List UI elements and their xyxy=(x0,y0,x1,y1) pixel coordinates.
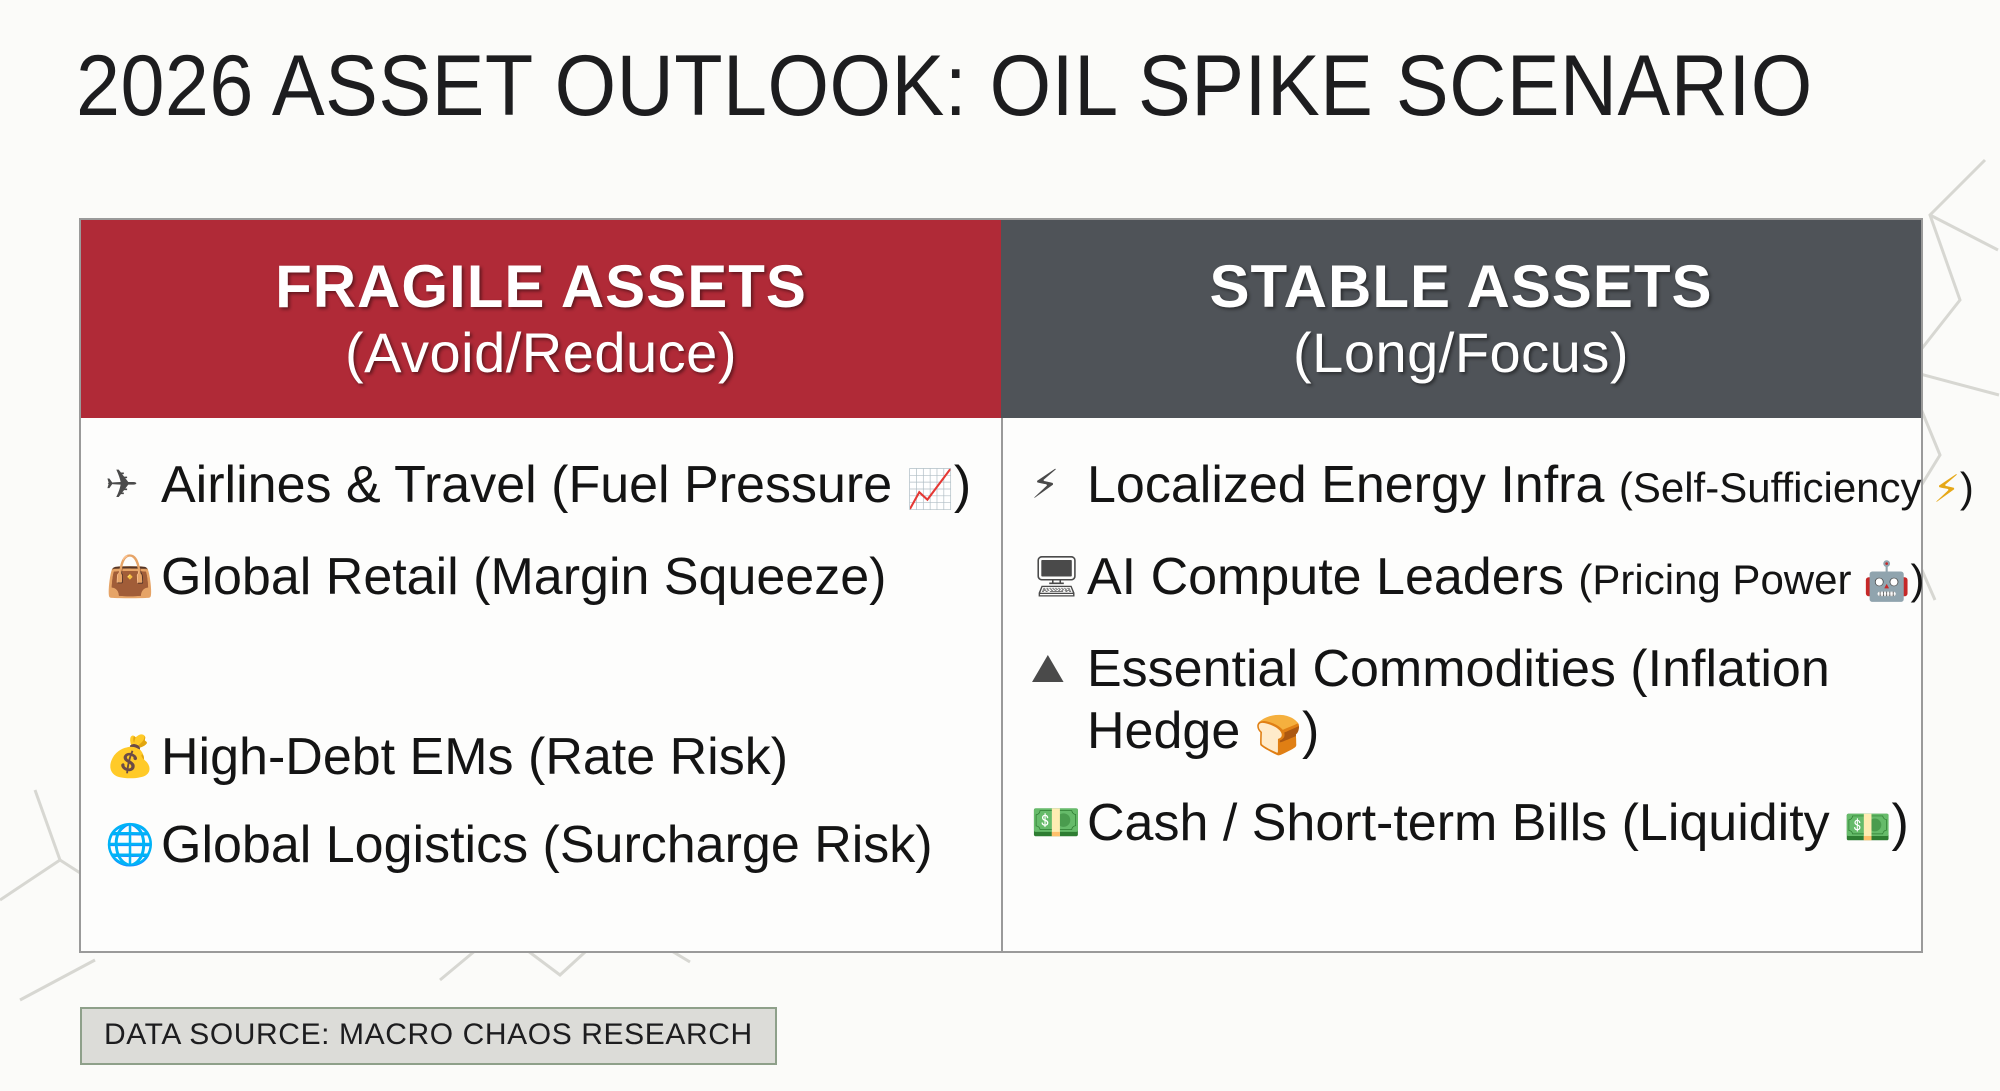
list-item-text: Airlines & Travel (Fuel Pressure xyxy=(161,456,907,514)
list-item: ✈ Airlines & Travel (Fuel Pressure 📈) xyxy=(105,454,1001,520)
list-item-label: Airlines & Travel (Fuel Pressure 📈) xyxy=(161,454,971,520)
stable-assets-header: STABLE ASSETS (Long/Focus) xyxy=(1001,220,1921,418)
airplane-icon: ✈ xyxy=(105,454,161,516)
globe-icon: 🌐 xyxy=(105,814,161,876)
fragile-assets-list: ✈ Airlines & Travel (Fuel Pressure 📈) 👜 … xyxy=(81,418,1001,951)
table-header-row: FRAGILE ASSETS (Avoid/Reduce) STABLE ASS… xyxy=(81,220,1921,418)
stable-header-title: STABLE ASSETS xyxy=(1209,253,1712,321)
list-item-label: Essential Commodities (Inflation Hedge 🍞… xyxy=(1087,638,1921,766)
list-item: 💰 High-Debt EMs (Rate Risk) xyxy=(105,726,1001,788)
stable-header-subtitle: (Long/Focus) xyxy=(1293,321,1629,385)
gold-bars-icon: ⛰ xyxy=(1031,638,1087,700)
list-item-note: (Self-Sufficiency xyxy=(1619,464,1933,511)
list-item-label: High-Debt EMs (Rate Risk) xyxy=(161,726,788,788)
list-item: 👜 Global Retail (Margin Squeeze) xyxy=(105,546,1001,608)
money-bag-icon: 💰 xyxy=(105,726,161,788)
fragile-header-title: FRAGILE ASSETS xyxy=(275,253,807,321)
shopping-bag-icon: 👜 xyxy=(105,546,161,608)
data-source-label: DATA SOURCE: MACRO CHAOS RESEARCH xyxy=(104,1018,753,1051)
dollar-banknote-icon: 💵 xyxy=(1031,792,1087,854)
list-item-label: AI Compute Leaders (Pricing Power 🤖) xyxy=(1087,546,1924,612)
list-item-text: Essential Commodities (Inflation Hedge xyxy=(1087,640,1830,760)
infographic-root: 2026 ASSET OUTLOOK: OIL SPIKE SCENARIO F… xyxy=(0,0,2000,1091)
list-item-tail: ) xyxy=(1910,556,1924,603)
list-item: ⚡ Localized Energy Infra (Self-Sufficien… xyxy=(1031,454,1921,520)
computer-chip-icon: 🖥 xyxy=(1031,546,1087,608)
data-source-badge: DATA SOURCE: MACRO CHAOS RESEARCH xyxy=(80,1007,777,1065)
list-item-label: Localized Energy Infra (Self-Sufficiency… xyxy=(1087,454,1974,520)
list-item-text: Cash / Short-term Bills xyxy=(1087,794,1622,852)
fragile-assets-header: FRAGILE ASSETS (Avoid/Reduce) xyxy=(81,220,1001,418)
list-item: 🖥 AI Compute Leaders (Pricing Power 🤖) xyxy=(1031,546,1921,612)
dollar-banknote-emoji: 💵 xyxy=(1844,805,1891,849)
bread-emoji: 🍞 xyxy=(1255,713,1302,757)
lightning-bolt-icon: ⚡ xyxy=(1031,454,1087,516)
list-item-tail: ) xyxy=(1891,794,1908,852)
list-item-label: Cash / Short-term Bills (Liquidity 💵) xyxy=(1087,792,1909,858)
list-item-label: Global Retail (Margin Squeeze) xyxy=(161,546,886,608)
list-item-tail: ) xyxy=(1302,702,1319,760)
list-item: 💵 Cash / Short-term Bills (Liquidity 💵) xyxy=(1031,792,1921,858)
list-item: 🌐 Global Logistics (Surcharge Risk) xyxy=(105,814,1001,876)
asset-comparison-table: FRAGILE ASSETS (Avoid/Reduce) STABLE ASS… xyxy=(79,218,1923,953)
list-item-tail: ) xyxy=(1960,464,1974,511)
robot-emoji: 🤖 xyxy=(1863,559,1910,603)
list-item-text: Localized Energy Infra xyxy=(1087,456,1619,514)
list-item-tail: ) xyxy=(954,456,971,514)
list-item-note: (Liquidity xyxy=(1622,794,1845,852)
high-voltage-emoji: ⚡ xyxy=(1933,467,1960,511)
table-body-row: ✈ Airlines & Travel (Fuel Pressure 📈) 👜 … xyxy=(81,418,1921,951)
list-item-label: Global Logistics (Surcharge Risk) xyxy=(161,814,933,876)
list-item: ⛰ Essential Commodities (Inflation Hedge… xyxy=(1031,638,1921,766)
list-item-text: AI Compute Leaders xyxy=(1087,548,1578,606)
stable-assets-list: ⚡ Localized Energy Infra (Self-Sufficien… xyxy=(1001,418,1921,951)
list-item-note: (Pricing Power xyxy=(1578,556,1863,603)
page-title: 2026 ASSET OUTLOOK: OIL SPIKE SCENARIO xyxy=(76,38,1813,134)
chart-increasing-emoji: 📈 xyxy=(907,467,954,511)
fragile-header-subtitle: (Avoid/Reduce) xyxy=(345,321,737,385)
